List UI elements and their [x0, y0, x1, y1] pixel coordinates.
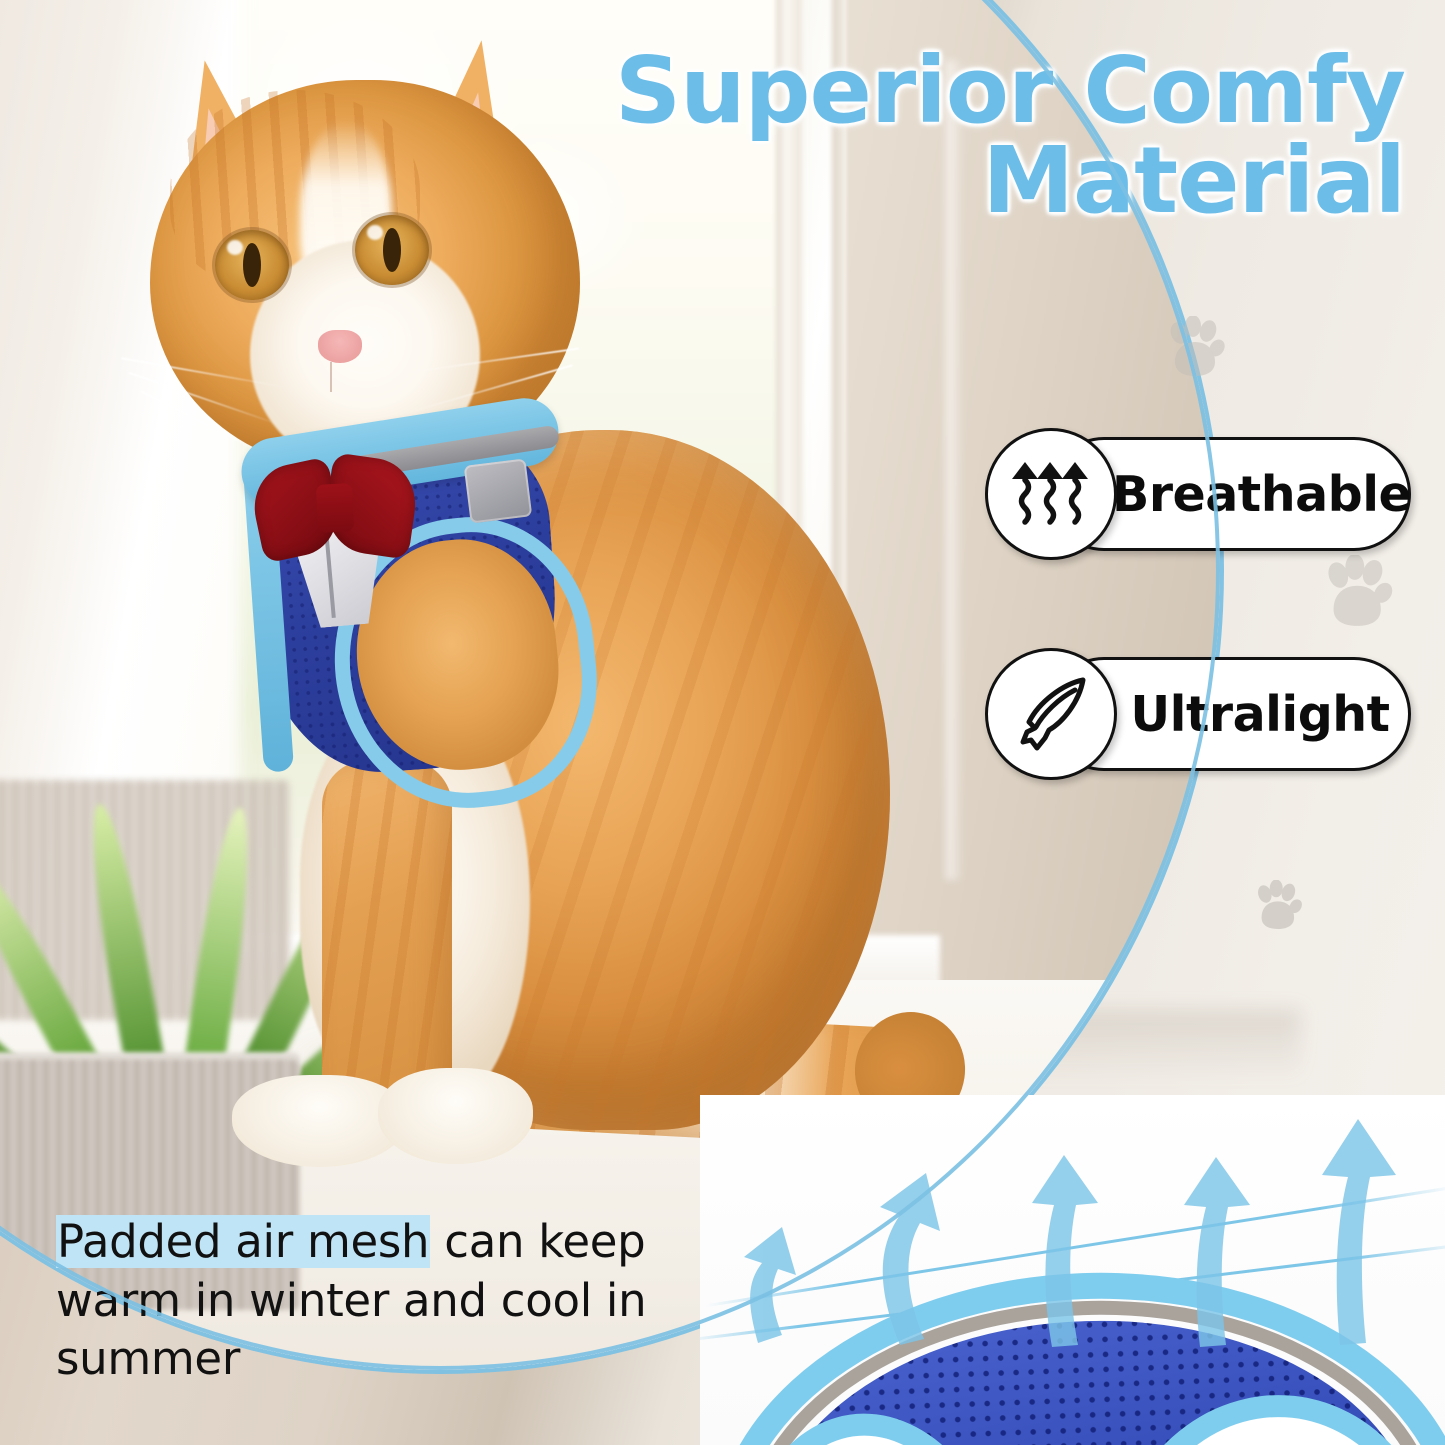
airflow-arrows — [700, 1095, 1445, 1445]
paw-print-icon — [1318, 555, 1394, 638]
bow-tie-knot — [316, 483, 354, 533]
caption-highlight: Padded air mesh — [56, 1215, 430, 1268]
airflow-arrow-icon — [1032, 1155, 1098, 1347]
feature-badge-breathable[interactable]: Breathable — [985, 428, 1405, 554]
product-marketing-image: Superior Comfy Material Breathable Ultra… — [0, 0, 1445, 1445]
harness-reflective-tag — [464, 458, 533, 523]
harness-on-cat — [215, 400, 605, 800]
airflow-arrow-icon — [1322, 1119, 1396, 1345]
paw-print-icon — [1251, 880, 1303, 939]
breathable-waves-icon — [985, 428, 1117, 560]
bow-tie — [255, 458, 420, 563]
cat-eye-right — [355, 215, 429, 285]
feature-badge-ultralight[interactable]: Ultralight — [985, 648, 1405, 774]
feather-icon — [985, 648, 1117, 780]
cat-front-leg-stripes — [322, 760, 452, 1120]
cat-nose — [318, 330, 362, 363]
airflow-arrow-icon — [880, 1173, 940, 1345]
cat-paw-right — [378, 1068, 533, 1164]
caption-text: Padded air mesh can keep warm in winter … — [56, 1213, 666, 1389]
page-title: Superior Comfy Material — [615, 46, 1405, 226]
headline-line-2: Material — [982, 127, 1405, 234]
product-closeup — [700, 1095, 1445, 1445]
paw-print-icon — [1162, 316, 1226, 387]
airflow-arrow-icon — [744, 1227, 796, 1343]
cat-mouth — [330, 362, 354, 392]
airflow-arrow-icon — [1184, 1157, 1250, 1347]
cat-eye-left — [215, 230, 289, 300]
